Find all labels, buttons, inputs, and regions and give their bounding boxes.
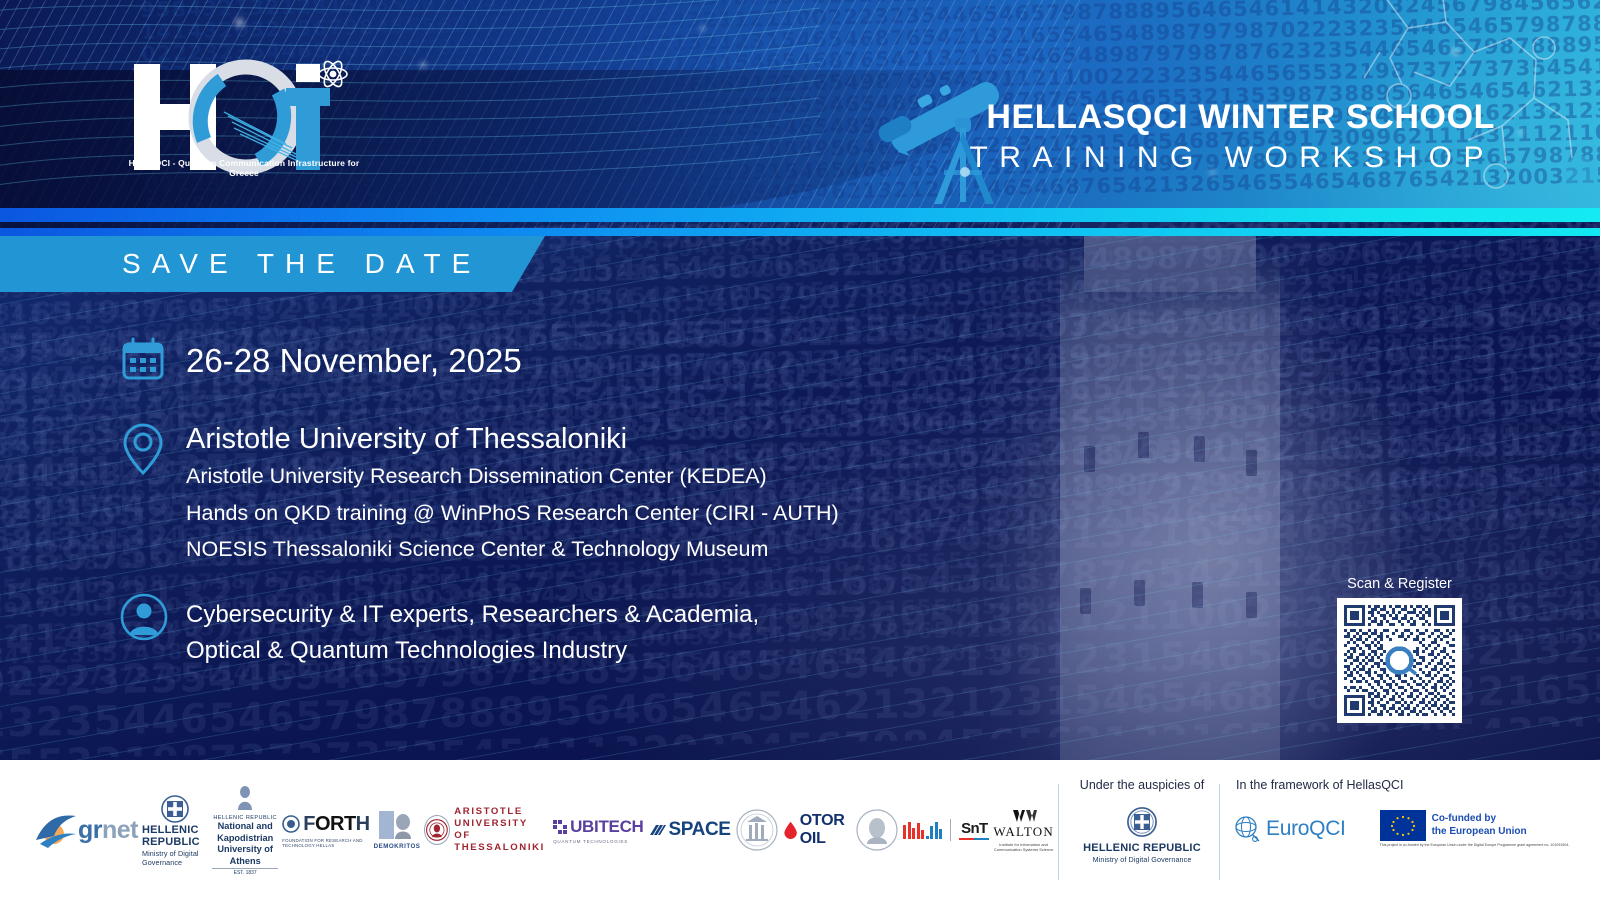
person-icon [120,593,168,641]
accent-band-lower [0,228,1600,236]
audience-row: Cybersecurity & IT experts, Researchers … [120,593,1020,669]
partner-logo-motor-oil: OTOR OIL [783,812,852,848]
footer: grnet HELLENIC REPUBLIC Ministry of Digi… [0,760,1600,900]
qr-label: Scan & Register [1337,576,1462,592]
space-mark-icon [648,822,666,838]
footer-divider-1 [1058,784,1059,880]
eu-cofunded-text: Co-funded by the European Union [1432,813,1527,838]
auth-seal-icon [424,815,450,845]
grnet-wordmark: grnet [78,816,138,845]
partner-logo-uni-lu-snt: SnT [903,819,989,841]
sparkle [700,26,705,31]
walton-mark-icon [1011,808,1037,824]
uoa-line-3: University of Athens [212,844,278,867]
auspices-logo-line-2: Ministry of Digital Governance [1093,855,1192,864]
auspices-block: Under the auspicies of HELLENIC REPUBLIC… [1072,770,1212,900]
euroqci-mark-icon [1232,814,1262,844]
event-title: HELLASQCI WINTER SCHOOL [969,98,1495,137]
auth-line-1: ARISTOTLE [454,806,549,818]
venue-row: Aristotle University of Thessaloniki Ari… [120,421,1020,565]
university-seal-icon [735,808,779,852]
ministry-line-2: Ministry of Digital Governance [142,849,208,867]
footer-divider-2 [1219,784,1220,880]
title-block: HELLASQCI WINTER SCHOOL TRAINING WORKSHO… [969,98,1495,175]
euroqci-logo: EuroQCI [1232,814,1346,844]
partner-logo-auth: ARISTOTLE UNIVERSITY OF THESSALONIKI [424,806,549,854]
auspices-logo-line-1: HELLENIC REPUBLIC [1083,842,1201,854]
partner-logo-ministry-digital-governance: HELLENIC REPUBLIC Ministry of Digital Go… [142,794,208,867]
walton-wordmark: WALTON [993,824,1054,840]
partner-logo-uoa: HELLENIC REPUBLIC National and Kapodistr… [212,784,278,876]
date-row: 26-28 November, 2025 [120,336,1020,387]
partner-logo-forth: FORTH FOUNDATION FOR RESEARCH AND TECHNO… [282,813,369,848]
forth-mark-icon [282,815,300,833]
forth-tagline: FOUNDATION FOR RESEARCH AND TECHNOLOGY H… [282,838,369,848]
qr-code-pattern [1344,605,1455,716]
auspices-caption: Under the auspicies of [1080,778,1204,792]
ubitech-tagline: QUANTUM TECHNOLOGIES [553,839,628,844]
partner-logo-ubitech: UBITECH QUANTUM TECHNOLOGIES [553,817,643,844]
eu-cofunded-badge: Co-funded by the European Union This pro… [1380,810,1570,847]
audience-line-2: Optical & Quantum Technologies Industry [186,633,759,669]
date-text: 26-28 November, 2025 [186,336,522,380]
venue-line-3: NOESIS Thessaloniki Science Center & Tec… [186,533,839,565]
grnet-suffix: net [102,816,138,844]
calendar-icon [120,336,166,382]
ubitech-mark-icon [553,820,567,834]
calendar-icon-wrap [120,336,186,387]
location-pin-icon [120,421,166,477]
partner-logo-institute-seal [855,808,899,852]
venue-text: Aristotle University of Thessaloniki Ari… [186,421,839,565]
auth-wordmark: ARISTOTLE UNIVERSITY OF THESSALONIKI [454,806,549,854]
venue-line-1: Aristotle University Research Disseminat… [186,460,839,492]
venue-line-2: Hands on QKD training @ WinPhoS Research… [186,497,839,529]
auth-line-2: UNIVERSITY [454,818,549,830]
eu-line-2: the European Union [1432,826,1527,839]
save-the-date-label: SAVE THE DATE [122,248,481,280]
eu-flag-icon [1380,810,1426,841]
audience-line-1: Cybersecurity & IT experts, Researchers … [186,597,759,633]
demokritos-emblem-icon [379,811,415,841]
logo-divider [950,819,951,841]
space-wordmark: SPACE [669,819,731,841]
audience-text: Cybersecurity & IT experts, Researchers … [186,593,759,669]
qr-block: Scan & Register [1337,576,1462,723]
ubitech-wordmark: UBITECH [570,817,643,837]
auth-line-3: OF THESSALONIKI [454,830,549,854]
event-subtitle: TRAINING WORKSHOP [969,141,1495,175]
motor-oil-wordmark: OTOR OIL [800,812,852,848]
walton-tagline: Institute for Information and Communicat… [993,842,1054,852]
hellenic-republic-emblem-icon [160,794,190,824]
uoa-emblem-icon [235,784,255,810]
sparkle [420,62,426,68]
ministry-line-1: HELLENIC REPUBLIC [142,824,208,848]
eu-line-1: Co-funded by [1432,813,1527,826]
forth-wordmark: FORTH [303,813,369,836]
motor-oil-droplet-icon [783,817,798,843]
location-pin-icon-wrap [120,421,186,482]
info-rows: 26-28 November, 2025 Aristotle Universit… [120,336,1020,669]
grnet-mark-icon [34,810,78,850]
framework-caption: In the framework of HellasQCI [1236,778,1403,792]
eu-disclaimer: This project is co-funded by the Europea… [1380,843,1570,847]
partner-logo-walton: WALTON Institute for Information and Com… [993,808,1054,852]
person-icon-wrap [120,593,186,646]
uni-lu-bars-icon [903,822,942,839]
partner-logo-university-seal [735,808,779,852]
accent-band-upper [0,208,1600,222]
snt-wordmark: SnT [961,820,988,837]
hellenic-republic-emblem-icon [1126,806,1158,838]
partner-logos: grnet HELLENIC REPUBLIC Ministry of Digi… [34,760,1054,900]
partner-logo-space-hellas: SPACE [648,819,731,841]
venue-heading: Aristotle University of Thessaloniki [186,423,839,456]
sparkle [235,18,244,27]
poster: 5465468765421320032154654654987988956465… [0,0,1600,900]
logo-caption: HellasQCI - Quantum Communication Infras… [128,158,360,178]
framework-block: In the framework of HellasQCI EuroQCI [1232,770,1584,900]
partner-logo-grnet: grnet [34,810,138,850]
demokritos-wordmark: DEMOKRITOS [374,843,421,850]
snt-underline [959,838,989,840]
euroqci-wordmark: EuroQCI [1266,817,1346,841]
qr-code[interactable] [1337,598,1462,723]
partner-logo-demokritos: DEMOKRITOS [374,811,421,850]
save-the-date-banner: SAVE THE DATE [0,236,545,292]
institute-seal-icon [855,808,899,852]
uoa-line-4: EST. 1837 [212,868,278,876]
uoa-line-2: National and Kapodistrian [212,821,278,844]
